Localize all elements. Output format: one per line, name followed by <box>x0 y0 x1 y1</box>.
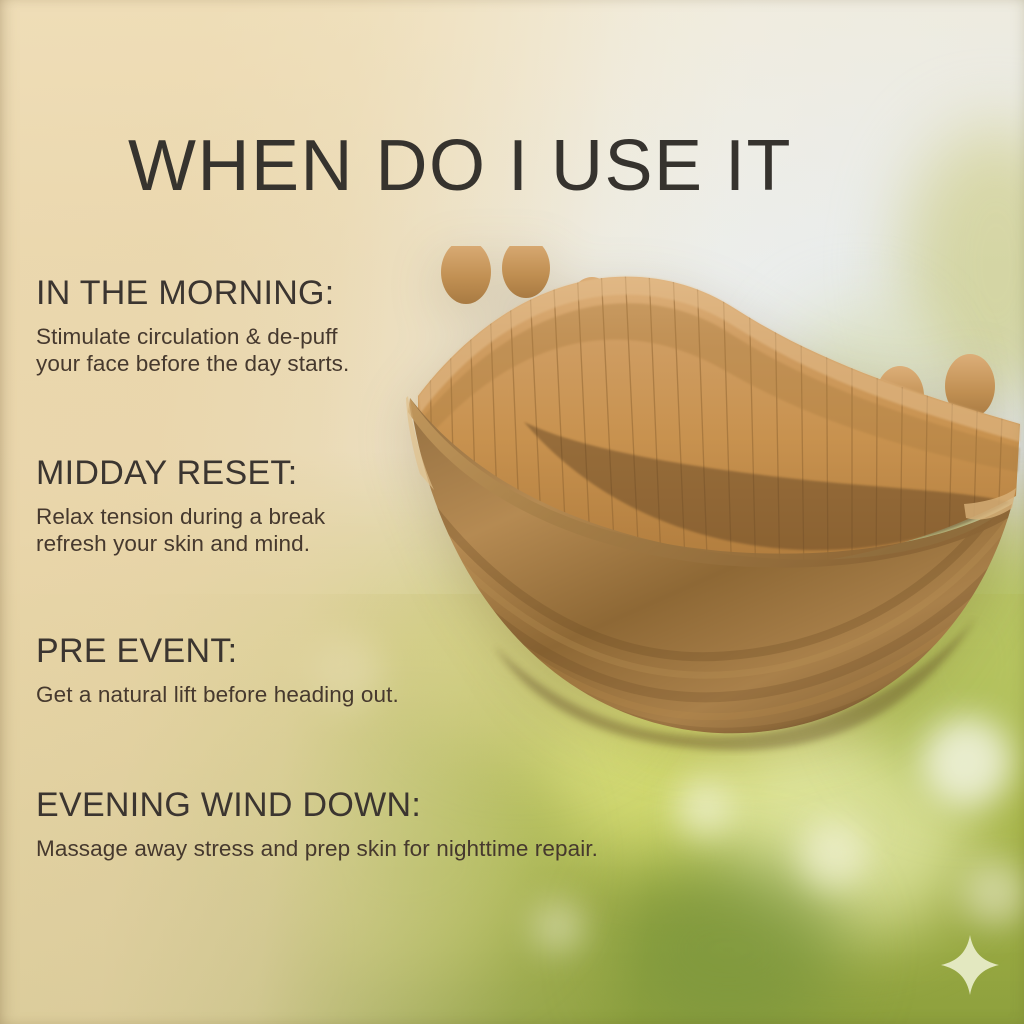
usage-section-midday: MIDDAY RESET: Relax tension during a bre… <box>36 456 325 558</box>
page-title: WHEN DO I USE IT <box>128 130 792 202</box>
usage-section-evening: EVENING WIND DOWN: Massage away stress a… <box>36 788 598 862</box>
sparkle-four-point-icon <box>940 934 1000 996</box>
section-body: Relax tension during a break refresh you… <box>36 503 325 558</box>
section-body: Get a natural lift before heading out. <box>36 681 399 709</box>
promo-graphic: WHEN DO I USE IT IN THE MORNING: Stimula… <box>0 0 1024 1024</box>
section-title: PRE EVENT: <box>36 634 399 670</box>
usage-section-pre-event: PRE EVENT: Get a natural lift before hea… <box>36 634 399 708</box>
section-body: Massage away stress and prep skin for ni… <box>36 835 598 863</box>
wooden-facial-brush <box>404 246 1024 756</box>
section-title: IN THE MORNING: <box>36 276 349 312</box>
section-title: MIDDAY RESET: <box>36 456 325 492</box>
section-body: Stimulate circulation & de-puff your fac… <box>36 323 349 378</box>
section-title: EVENING WIND DOWN: <box>36 788 598 824</box>
usage-section-morning: IN THE MORNING: Stimulate circulation & … <box>36 276 349 378</box>
